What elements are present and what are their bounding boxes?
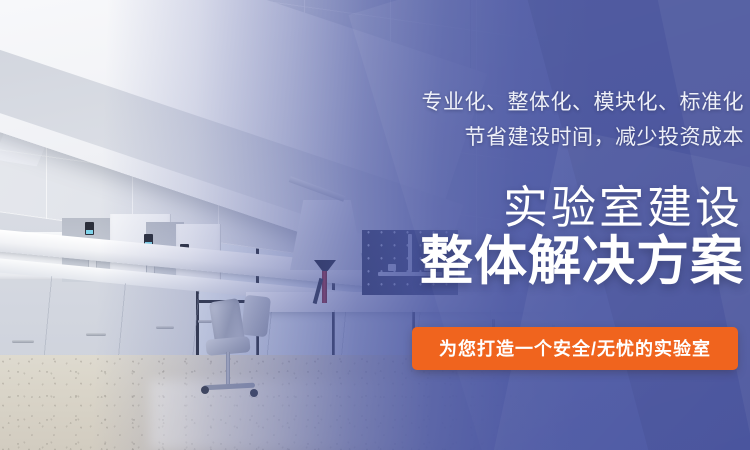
headline-primary: 实验室建设 bbox=[503, 182, 743, 234]
kicker-line-2: 节省建设时间，减少投资成本 bbox=[465, 124, 745, 151]
lab-solution-banner: 专业化、整体化、模块化、标准化 节省建设时间，减少投资成本 实验室建设 整体解决… bbox=[0, 0, 750, 450]
banner-copy-block: 专业化、整体化、模块化、标准化 节省建设时间，减少投资成本 实验室建设 整体解决… bbox=[274, 0, 744, 450]
kicker-line-1: 专业化、整体化、模块化、标准化 bbox=[422, 89, 745, 116]
cta-button[interactable]: 为您打造一个安全/无忧的实验室 bbox=[412, 327, 738, 370]
headline-secondary: 整体解决方案 bbox=[420, 232, 744, 292]
